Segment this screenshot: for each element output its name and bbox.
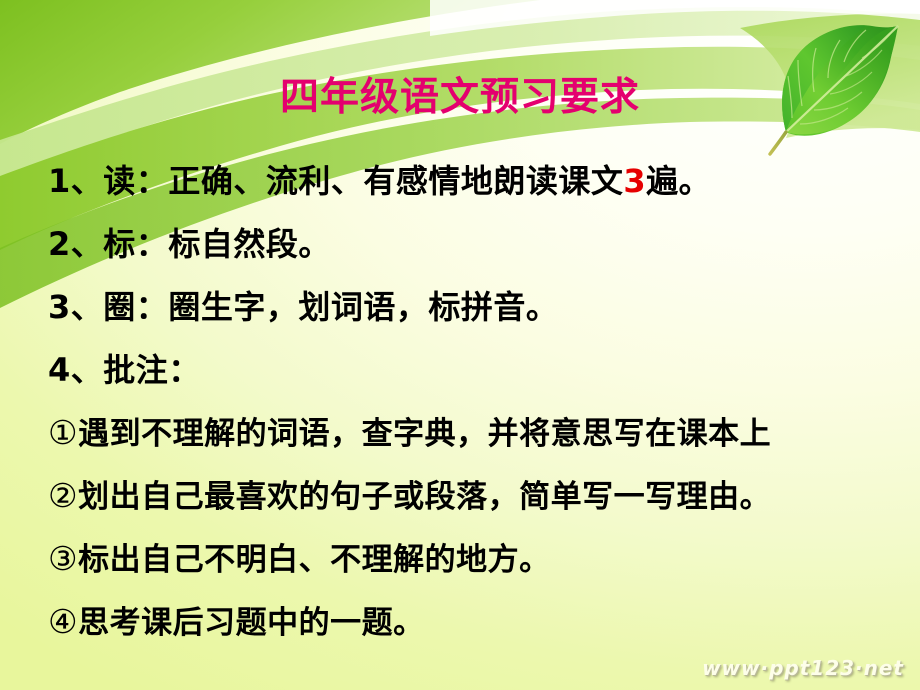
subitem-3-marker: ③ (48, 539, 78, 578)
list-item-2: 2、标：标自然段。 (48, 213, 898, 276)
subitem-1-text: 遇到不理解的词语，查字典，并将意思写在课本上 (78, 416, 771, 452)
subitem-4-text: 思考课后习题中的一题。 (78, 605, 425, 641)
subitem-4-marker: ④ (48, 602, 78, 641)
item-1-highlight: 3 (623, 162, 646, 200)
item-1-text-after: 遍。 (646, 162, 711, 200)
subitem-1-marker: ① (48, 413, 78, 452)
item-2-label: 标 (103, 225, 136, 263)
sub-list-item-2: ②划出自己最喜欢的句子或段落，简单写一写理由。 (48, 465, 898, 528)
item-3-label: 圈 (103, 288, 136, 326)
item-1-marker: 1、 (48, 162, 103, 200)
sub-list-item-3: ③标出自己不明白、不理解的地方。 (48, 528, 898, 591)
item-2-text: 标自然段。 (168, 225, 331, 263)
subitem-2-marker: ② (48, 476, 78, 515)
page-title: 四年级语文预习要求 (0, 73, 920, 121)
item-2-marker: 2、 (48, 225, 103, 263)
item-4-label: 批注 (103, 351, 168, 389)
item-4-colon: ： (168, 351, 201, 389)
sub-list-item-4: ④思考课后习题中的一题。 (48, 591, 898, 654)
sub-list-item-1: ①遇到不理解的词语，查字典，并将意思写在课本上 (48, 402, 898, 465)
list-item-1: 1、读：正确、流利、有感情地朗读课文3遍。 (48, 150, 898, 213)
item-2-colon: ： (136, 225, 169, 263)
content-body: 1、读：正确、流利、有感情地朗读课文3遍。 2、标：标自然段。 3、圈：圈生字，… (48, 150, 898, 654)
subitem-3-text: 标出自己不明白、不理解的地方。 (78, 542, 551, 578)
item-1-text: 正确、流利、有感情地朗读课文 (168, 162, 623, 200)
item-3-text: 圈生字，划词语，标拼音。 (168, 288, 558, 326)
item-1-label: 读 (103, 162, 136, 200)
item-3-marker: 3、 (48, 288, 103, 326)
item-3-colon: ： (136, 288, 169, 326)
item-1-colon: ： (136, 162, 169, 200)
list-item-4: 4、批注： (48, 339, 898, 402)
subitem-2-text: 划出自己最喜欢的句子或段落，简单写一写理由。 (78, 479, 771, 515)
item-4-marker: 4、 (48, 351, 103, 389)
slide-canvas: 四年级语文预习要求 1、读：正确、流利、有感情地朗读课文3遍。 2、标：标自然段… (0, 0, 920, 690)
list-item-3: 3、圈：圈生字，划词语，标拼音。 (48, 276, 898, 339)
watermark: www·ppt123·net (702, 656, 904, 680)
